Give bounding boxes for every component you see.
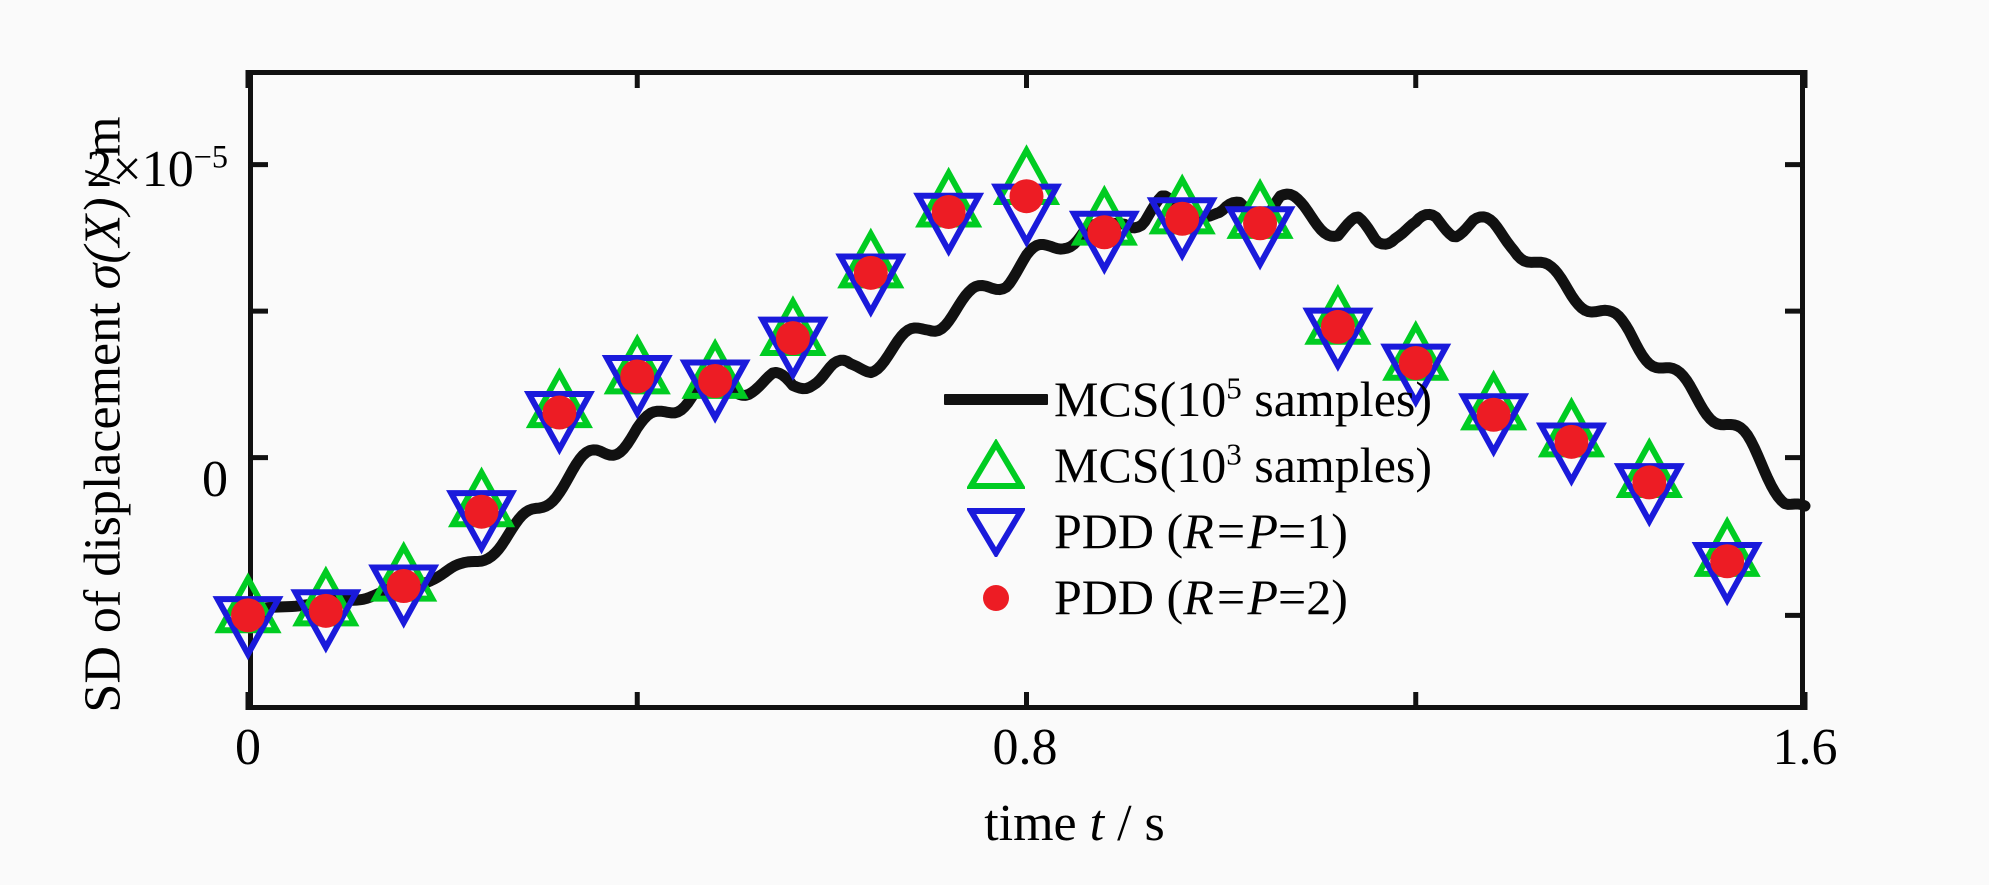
legend-label-pdd-r1: PDD (R=P=1) bbox=[1054, 502, 1348, 560]
y-tick-label-2e-5: 2×10−5 bbox=[10, 140, 228, 199]
y-axis-title-symbol: σ(X) bbox=[75, 197, 132, 289]
legend-item-mcs-1e3[interactable]: MCS(103 samples) bbox=[938, 432, 1578, 498]
legend-triangle-up-icon bbox=[938, 439, 1054, 491]
x-tick-label-1.6: 1.6 bbox=[1735, 718, 1875, 777]
marker-dot-icon bbox=[932, 195, 966, 229]
marker-dot-icon bbox=[231, 598, 265, 632]
y-tick-mantissa: 2×10 bbox=[86, 141, 193, 198]
legend-pdd2-vars: R=P bbox=[1183, 569, 1278, 625]
legend-triangle-down-icon bbox=[938, 505, 1054, 557]
y-tick-exponent: −5 bbox=[194, 139, 228, 175]
x-axis-title-pre: time bbox=[984, 795, 1089, 852]
x-axis-title: time t / s bbox=[80, 794, 1989, 853]
marker-dot-icon bbox=[698, 364, 732, 398]
marker-dot-icon bbox=[776, 321, 810, 355]
legend: MCS(105 samples) MCS(103 samples) PDD (R… bbox=[938, 366, 1578, 630]
legend-pdd1-vars: R=P bbox=[1183, 503, 1278, 559]
marker-dot-icon bbox=[465, 495, 499, 529]
marker-dot-icon bbox=[1632, 465, 1666, 499]
legend-dot-icon bbox=[938, 571, 1054, 623]
legend-item-pdd-r2[interactable]: PDD (R=P=2) bbox=[938, 564, 1578, 630]
marker-dot-icon bbox=[1010, 179, 1044, 213]
marker-dot-icon bbox=[620, 359, 654, 393]
marker-dot-icon bbox=[1165, 202, 1199, 236]
legend-label-pdd-r2: PDD (R=P=2) bbox=[1054, 568, 1348, 626]
marker-dot-icon bbox=[387, 569, 421, 603]
x-axis-title-symbol: t bbox=[1090, 795, 1104, 852]
legend-label-mcs-1e3: MCS(103 samples) bbox=[1054, 436, 1432, 494]
marker-dot-icon bbox=[1321, 310, 1355, 344]
marker-dot-icon bbox=[854, 256, 888, 290]
legend-line-swatch-icon bbox=[938, 394, 1054, 405]
marker-dot-icon bbox=[542, 396, 576, 430]
legend-item-pdd-r1[interactable]: PDD (R=P=1) bbox=[938, 498, 1578, 564]
marker-dot-icon bbox=[1710, 544, 1744, 578]
plot-area: MCS(105 samples) MCS(103 samples) PDD (R… bbox=[248, 70, 1805, 710]
x-tick-label-0.8: 0.8 bbox=[955, 718, 1095, 777]
figure-root: SD of displacement σ(X) / m 2×10−5 0 0 0… bbox=[0, 0, 1989, 885]
y-tick-label-0: 0 bbox=[10, 450, 228, 509]
legend-item-mcs-1e5[interactable]: MCS(105 samples) bbox=[938, 366, 1578, 432]
x-axis-title-post: / s bbox=[1104, 795, 1165, 852]
marker-dot-icon bbox=[1087, 215, 1121, 249]
x-tick-label-0: 0 bbox=[178, 718, 318, 777]
marker-dot-icon bbox=[1243, 206, 1277, 240]
legend-label-mcs-1e5: MCS(105 samples) bbox=[1054, 370, 1432, 428]
marker-dot-icon bbox=[309, 594, 343, 628]
